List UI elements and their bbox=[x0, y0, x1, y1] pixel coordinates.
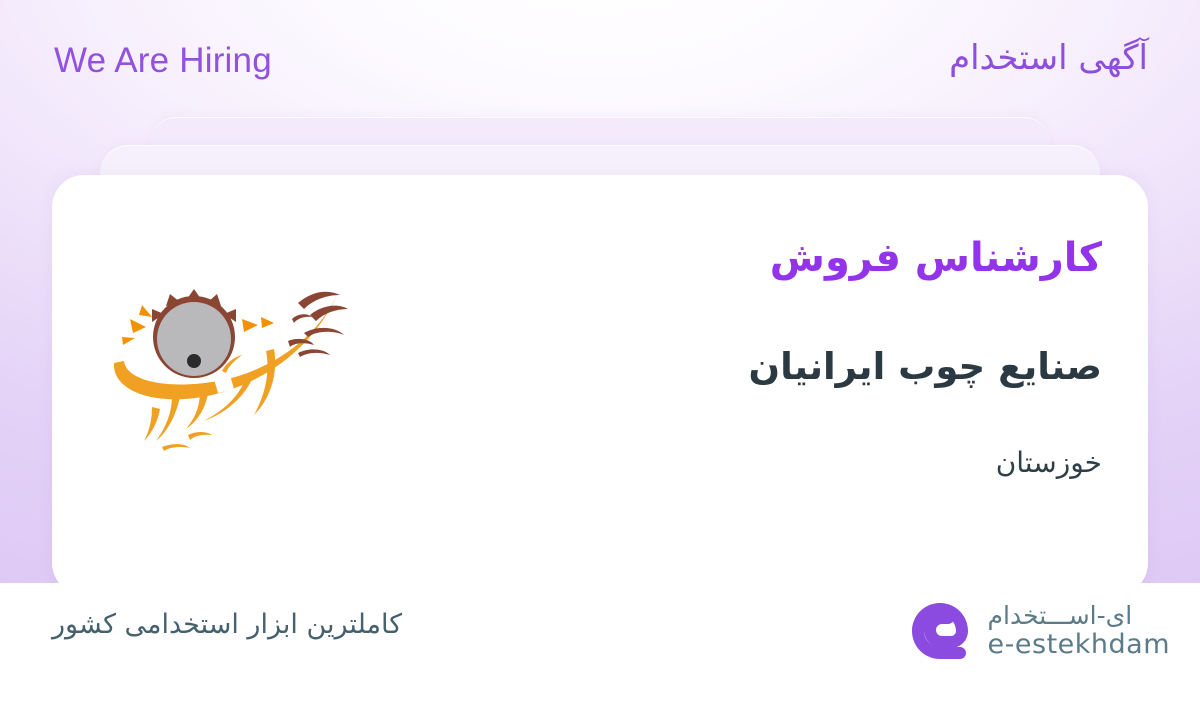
spark-icon-left bbox=[122, 305, 152, 345]
job-card-content: کارشناس فروش صنایع چوب ایرانیان خوزستان bbox=[52, 175, 1148, 583]
spark-icon-right bbox=[242, 317, 274, 332]
e-estekhdam-brand[interactable]: ای-اســـتخدام e-estekhdam bbox=[908, 599, 1170, 663]
job-title: کارشناس فروش bbox=[770, 235, 1102, 281]
poster-footer: کاملترین ابزار استخدامی کشور ای-اســـتخد… bbox=[0, 583, 1200, 705]
brand-name-english: e-estekhdam bbox=[988, 630, 1170, 660]
brand-name-persian: ای-اســـتخدام bbox=[988, 602, 1133, 630]
brand-wordmark: ای-اســـتخدام e-estekhdam bbox=[988, 602, 1170, 660]
saw-blade-arbor-icon bbox=[187, 354, 201, 368]
job-advertisement-poster: We Are Hiring آگهی استخدام کارشناس فروش … bbox=[0, 0, 1200, 705]
footer-tagline: کاملترین ابزار استخدامی کشور bbox=[52, 609, 402, 640]
poster-background: We Are Hiring آگهی استخدام کارشناس فروش … bbox=[0, 0, 1200, 583]
e-estekhdam-logo-icon bbox=[908, 599, 972, 663]
job-location: خوزستان bbox=[996, 446, 1102, 479]
job-ad-label: آگهی استخدام bbox=[949, 38, 1148, 78]
company-name: صنایع چوب ایرانیان bbox=[749, 345, 1102, 388]
we-are-hiring-label: We Are Hiring bbox=[54, 41, 272, 81]
company-logo bbox=[102, 275, 392, 475]
